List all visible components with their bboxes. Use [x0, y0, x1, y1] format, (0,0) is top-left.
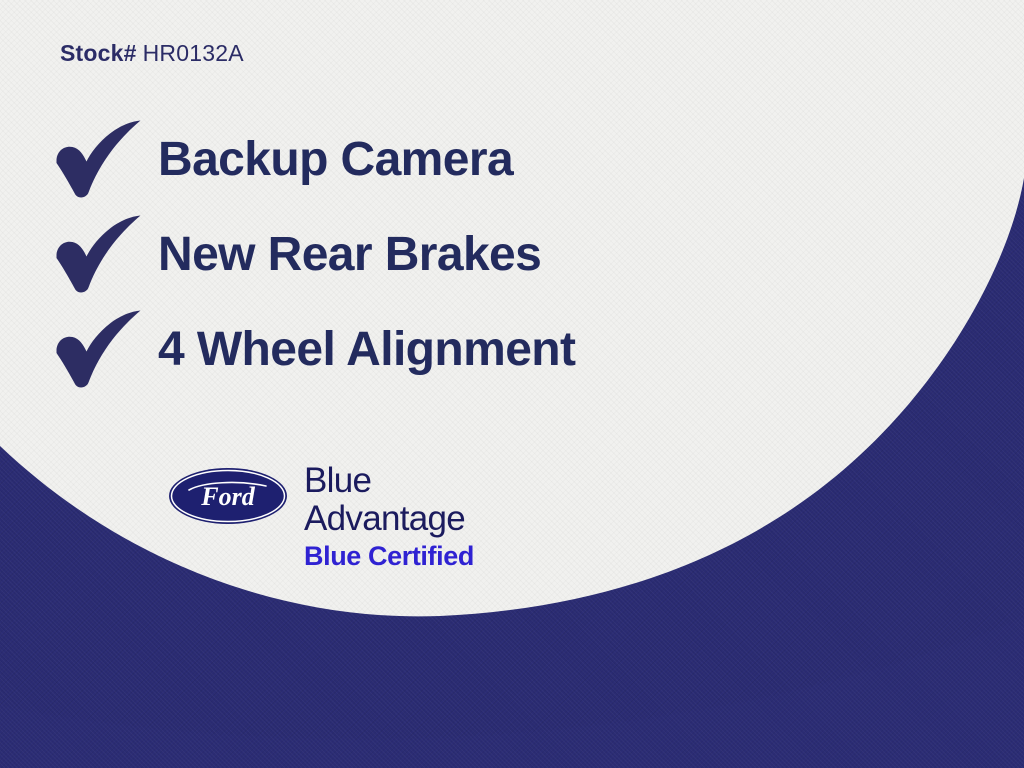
ford-wordmark: Ford — [200, 482, 255, 511]
ford-blue-advantage-lockup: Ford Blue Advantage Blue Certified — [168, 463, 474, 570]
vehicle-feature-card: Stock#HR0132A Backup Camera New Rear Bra… — [0, 0, 1024, 768]
feature-list: Backup Camera New Rear Brakes 4 Wheel Al… — [52, 112, 772, 397]
brand-subtitle: Blue Certified — [304, 543, 474, 570]
feature-label: New Rear Brakes — [158, 227, 541, 282]
feature-item: Backup Camera — [52, 112, 772, 207]
feature-item: New Rear Brakes — [52, 207, 772, 302]
feature-item: 4 Wheel Alignment — [52, 302, 772, 397]
stock-number-value: HR0132A — [143, 40, 244, 66]
checkmark-icon — [52, 120, 148, 200]
brand-title-line-1: Blue — [304, 463, 474, 498]
checkmark-icon — [52, 215, 148, 295]
brand-title-line-2: Advantage — [304, 501, 474, 536]
feature-label: Backup Camera — [158, 132, 513, 187]
ford-oval-logo: Ford — [168, 467, 288, 525]
stock-number-label: Stock# — [60, 40, 137, 66]
feature-label: 4 Wheel Alignment — [158, 322, 575, 377]
checkmark-icon — [52, 310, 148, 390]
stock-number: Stock#HR0132A — [60, 40, 244, 67]
brand-text-block: Blue Advantage Blue Certified — [304, 463, 474, 570]
